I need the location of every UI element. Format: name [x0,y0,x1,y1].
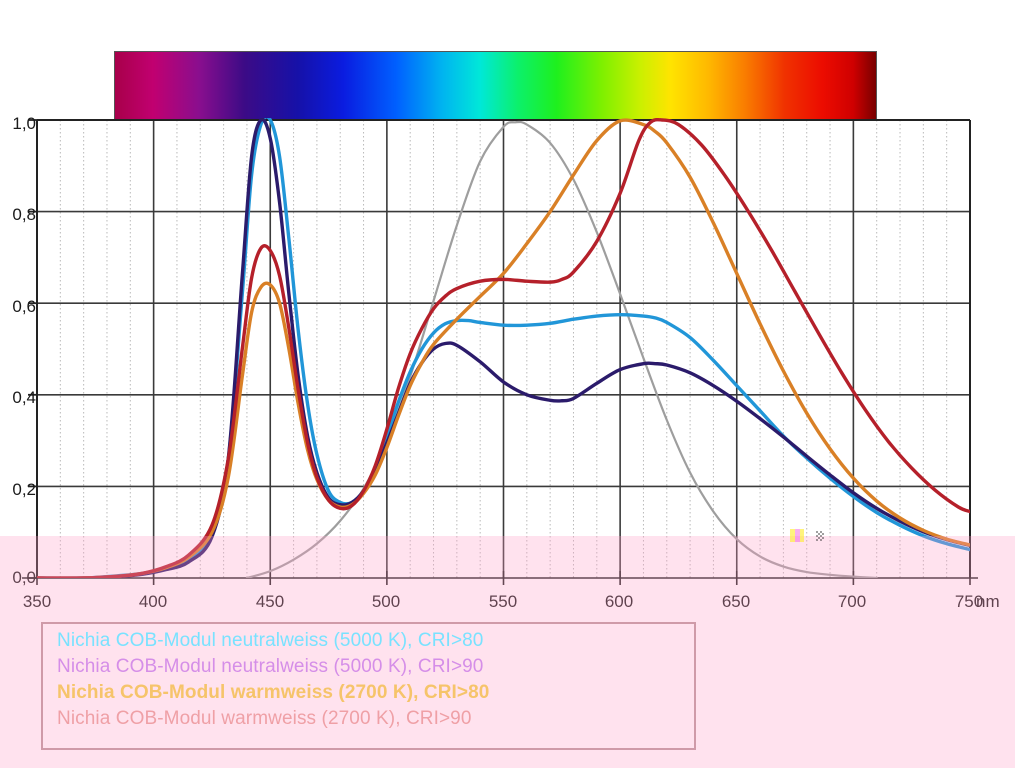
legend-entry-neutralweiss-5000k-cri80: Nichia COB-Modul neutralweiss (5000 K), … [57,630,483,652]
legend-entry-warmweiss-2700k-cri80: Nichia COB-Modul warmweiss (2700 K), CRI… [57,682,489,704]
x-tick-label-450: 450 [240,592,300,612]
y-tick-label-06: 0,6 [0,297,36,317]
y-tick-label-1: 1,0 [0,114,36,134]
x-tick-label-500: 500 [356,592,416,612]
x-tick-label-400: 400 [123,592,183,612]
screenshot-root: 1,0 0,8 0,6 0,4 0,2 0,0 350 400 450 500 … [0,0,1015,768]
y-tick-label-08: 0,8 [0,205,36,225]
legend-box: Nichia COB-Modul neutralweiss (5000 K), … [41,622,696,750]
x-tick-label-700: 700 [822,592,882,612]
x-tick-label-600: 600 [589,592,649,612]
legend-entry-neutralweiss-5000k-cri90: Nichia COB-Modul neutralweiss (5000 K), … [57,656,483,678]
y-tick-label-04: 0,4 [0,388,36,408]
x-axis-unit-label: nm [976,592,1015,612]
y-tick-label-00: 0,0 [0,568,36,588]
x-tick-label-650: 650 [706,592,766,612]
y-tick-label-02: 0,2 [0,480,36,500]
x-tick-label-550: 550 [473,592,533,612]
legend-entry-warmweiss-2700k-cri90: Nichia COB-Modul warmweiss (2700 K), CRI… [57,708,472,730]
x-tick-label-350: 350 [7,592,67,612]
axis-frame [22,120,978,578]
